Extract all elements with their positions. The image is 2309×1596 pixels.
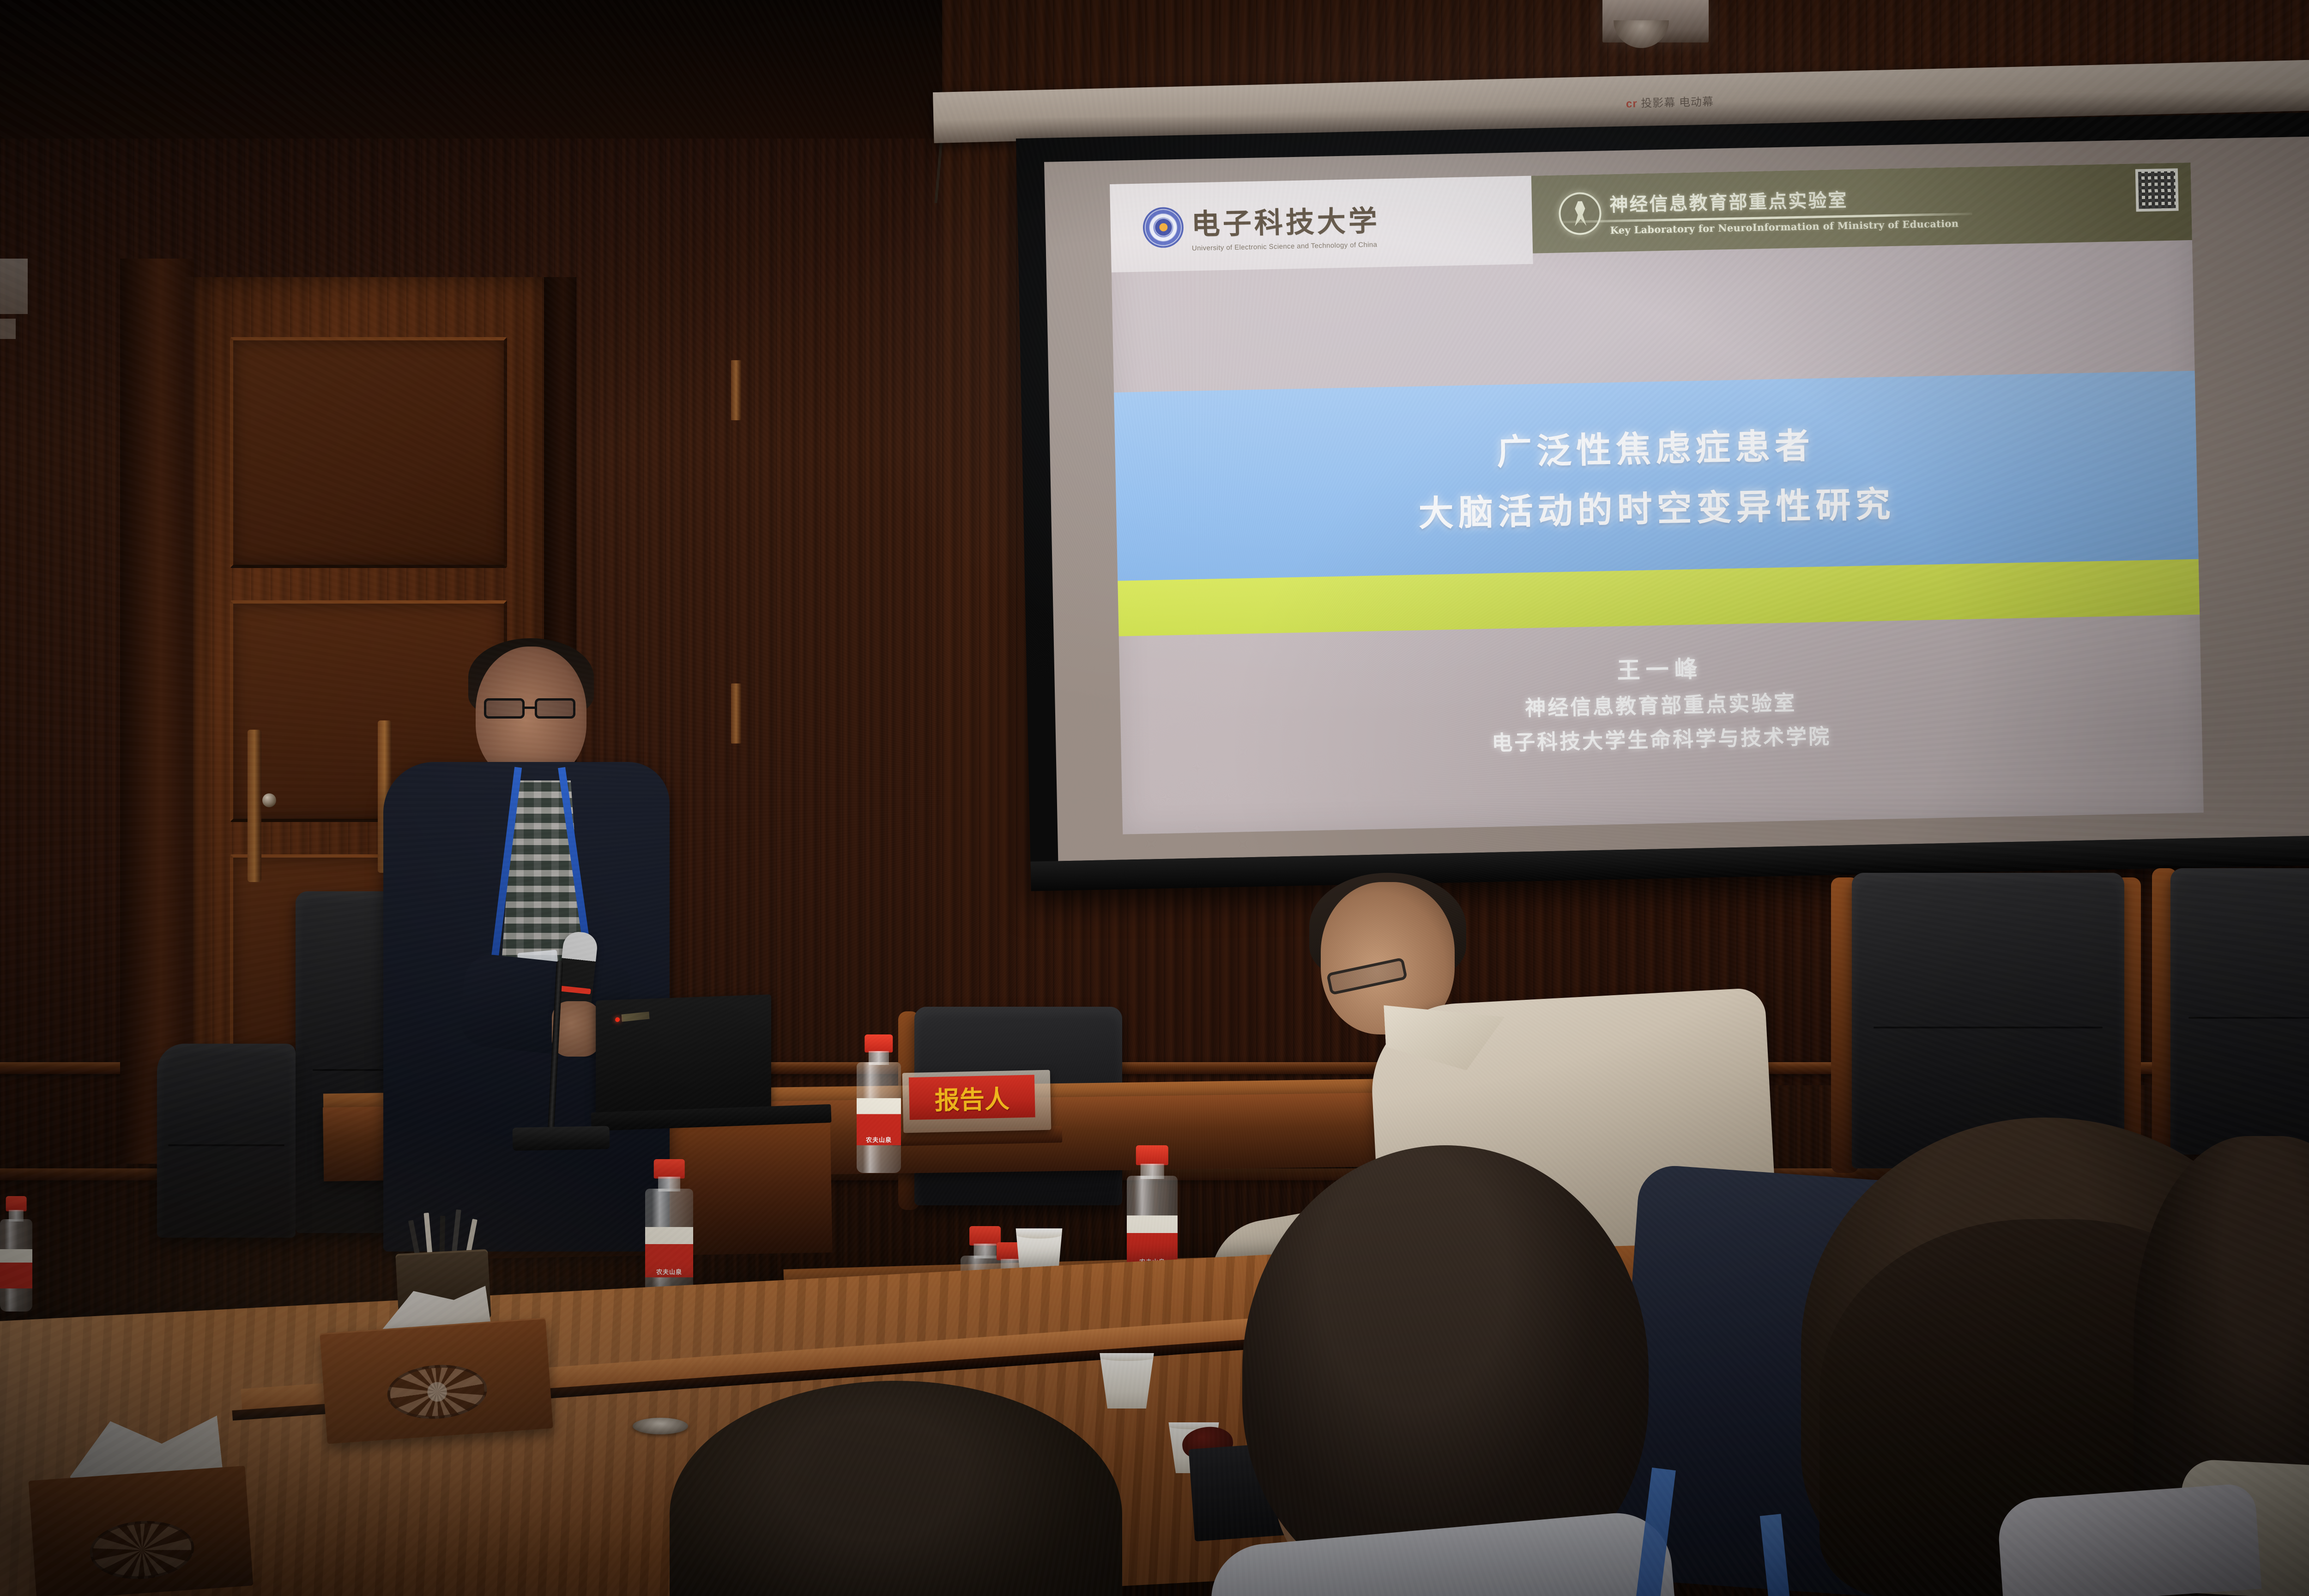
bottle-cap [1136, 1145, 1168, 1165]
bottle-label: 农夫山泉 [645, 1227, 693, 1277]
left-wall-sign [0, 259, 28, 314]
slide-title-line-2: 大脑活动的时空变异性研究 [1418, 476, 1896, 536]
laptop-power-led-icon [615, 1017, 620, 1022]
lab-name-cn: 神经信息教育部重点实验室 [1609, 183, 1958, 217]
qr-code-icon[interactable] [2135, 168, 2178, 212]
door-handle[interactable] [248, 730, 261, 882]
speaker-nameplate-text: 报告人 [934, 1078, 1010, 1116]
door-frame [120, 259, 194, 1164]
microphone-base [513, 1126, 610, 1151]
nameplate-holder: 报告人 [902, 1070, 1052, 1133]
slide-affiliation-1: 神经信息教育部重点实验室 [1525, 686, 1797, 721]
ceiling-light-fixture [1602, 0, 1709, 42]
projection-screen: 电子科技大学 University of Electronic Science … [1016, 111, 2309, 891]
university-seal-icon [1142, 206, 1184, 248]
water-bottle[interactable]: 农夫山泉 [857, 1034, 901, 1173]
water-bottle[interactable] [0, 1196, 32, 1312]
bottle-cap [6, 1196, 27, 1211]
bottle-label: 农夫山泉 [857, 1098, 901, 1145]
tissue-box-carving [88, 1517, 196, 1582]
university-name-cn: 电子科技大学 [1191, 197, 1380, 242]
university-text: 电子科技大学 University of Electronic Science … [1191, 197, 1380, 252]
table-grommet[interactable] [633, 1418, 688, 1434]
left-wall-sign-small [0, 319, 16, 339]
housing-brand-text: 投影幕 电动幕 [1641, 96, 1714, 110]
audience-white-shoulder [1996, 1483, 2262, 1596]
door-hinge-middle [731, 683, 741, 744]
presenter-laptop[interactable] [596, 994, 771, 1120]
slide-footer: 王一峰 神经信息教育部重点实验室 电子科技大学生命科学与技术学院 [1119, 615, 2204, 834]
door-knob-secondary[interactable] [262, 793, 276, 807]
bottle-cap [654, 1159, 685, 1179]
door-panel-top [230, 337, 507, 568]
slide-title-band: 广泛性焦虑症患者 大脑活动的时空变异性研究 [1114, 371, 2198, 581]
carved-tissue-box[interactable] [29, 1466, 254, 1596]
presenter-glasses-icon [484, 698, 581, 719]
tissue-box-carving [386, 1362, 489, 1422]
bottle-brand-cn: 农夫山泉 [656, 1267, 682, 1276]
bottle-cap [864, 1034, 893, 1052]
bottle-label [0, 1249, 32, 1288]
bottle-brand-cn: 农夫山泉 [866, 1135, 892, 1144]
slide-title-line-1: 广泛性焦虑症患者 [1496, 417, 1815, 474]
carved-tissue-box[interactable] [320, 1318, 553, 1444]
laptop-logo [622, 1011, 650, 1022]
lab-block: 神经信息教育部重点实验室 Key Laboratory for NeuroInf… [1531, 163, 2192, 253]
chair-left-2[interactable] [157, 1044, 296, 1238]
housing-brand-label: cr 投影幕 电动幕 [1626, 92, 1714, 110]
university-name-en: University of Electronic Science and Tec… [1192, 241, 1380, 252]
slide-presenter-name: 王一峰 [1617, 651, 1703, 686]
seminar-room-photo: cr 投影幕 电动幕 电子科技大学 University of Electron… [0, 0, 2309, 1596]
slide-affiliation-2: 电子科技大学生命科学与技术学院 [1492, 719, 1831, 756]
presentation-slide: 电子科技大学 University of Electronic Science … [1110, 163, 2203, 834]
lab-seal-icon [1559, 192, 1602, 236]
door-hinge-top [731, 360, 741, 420]
projection-surface: 电子科技大学 University of Electronic Science … [1044, 136, 2309, 861]
housing-brand-mark: cr [1626, 97, 1638, 110]
speaker-nameplate: 报告人 [909, 1075, 1035, 1120]
university-block: 电子科技大学 University of Electronic Science … [1110, 176, 1533, 272]
slide-header: 电子科技大学 University of Electronic Science … [1110, 163, 2192, 272]
chair-right-2[interactable] [2170, 868, 2309, 1155]
lab-text: 神经信息教育部重点实验室 Key Laboratory for NeuroInf… [1609, 183, 1959, 236]
